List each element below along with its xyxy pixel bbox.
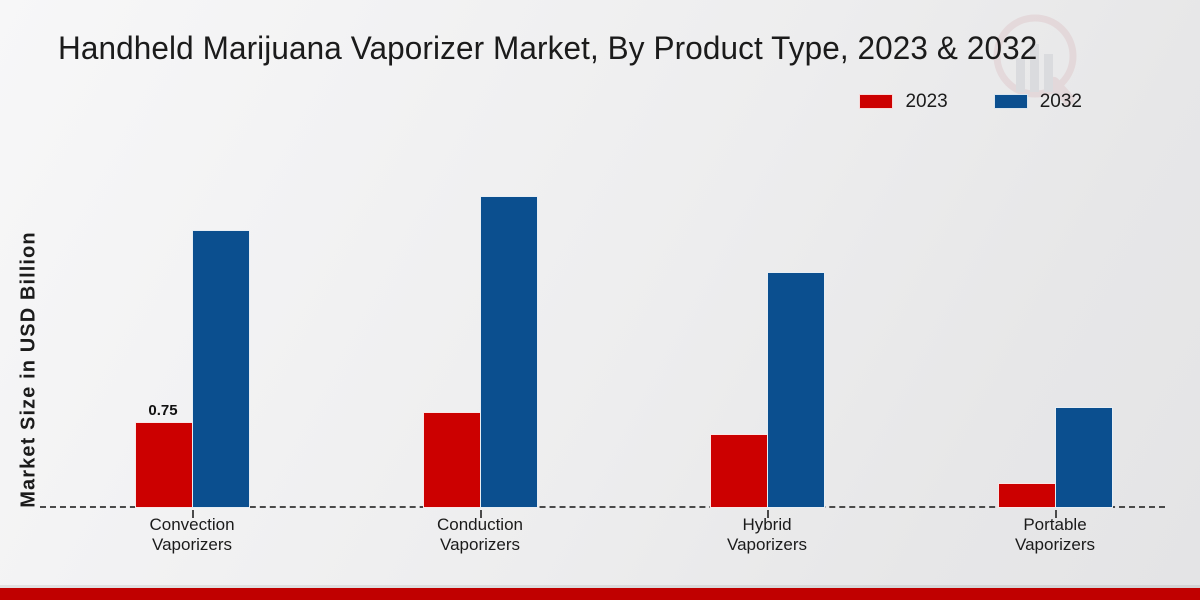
bar-2023-hybrid[interactable]	[710, 434, 768, 508]
bar-2032-portable[interactable]	[1055, 407, 1113, 508]
x-axis-label-hybrid-line1: Hybrid	[657, 515, 877, 535]
x-axis-label-convection-line2: Vaporizers	[82, 535, 302, 555]
x-axis-label-conduction: Conduction Vaporizers	[370, 515, 590, 555]
legend-label-2032: 2032	[1040, 92, 1082, 111]
x-axis-label-convection: Convection Vaporizers	[82, 515, 302, 555]
plot-area: 0.75	[40, 130, 1165, 508]
x-axis-label-conduction-line2: Vaporizers	[370, 535, 590, 555]
chart-title: Handheld Marijuana Vaporizer Market, By …	[58, 30, 1102, 67]
x-axis-label-conduction-line1: Conduction	[370, 515, 590, 535]
legend-item-2032[interactable]: 2032	[994, 92, 1082, 111]
chart-legend: 2023 2032	[859, 92, 1082, 111]
legend-label-2023: 2023	[905, 92, 947, 111]
bar-group-convection: 0.75	[135, 130, 251, 508]
x-axis-label-portable: Portable Vaporizers	[945, 515, 1165, 555]
legend-item-2023[interactable]: 2023	[859, 92, 947, 111]
y-axis-title: Market Size in USD Billion	[18, 200, 41, 540]
x-axis-label-portable-line1: Portable	[945, 515, 1165, 535]
x-axis-label-convection-line1: Convection	[82, 515, 302, 535]
bar-2032-convection[interactable]	[192, 230, 250, 508]
x-axis-label-hybrid-line2: Vaporizers	[657, 535, 877, 555]
bar-2023-convection[interactable]	[135, 422, 193, 508]
legend-swatch-2023	[859, 94, 893, 109]
bar-group-hybrid	[710, 130, 826, 508]
bar-group-conduction	[423, 130, 539, 508]
bar-2032-conduction[interactable]	[480, 196, 538, 508]
footer-red-strip	[0, 588, 1200, 600]
x-axis-label-hybrid: Hybrid Vaporizers	[657, 515, 877, 555]
x-axis-label-portable-line2: Vaporizers	[945, 535, 1165, 555]
bar-value-label-2023-convection: 0.75	[134, 402, 192, 419]
bar-group-portable	[998, 130, 1114, 508]
legend-swatch-2032	[994, 94, 1028, 109]
bar-2023-portable[interactable]	[998, 483, 1056, 508]
bar-2023-conduction[interactable]	[423, 412, 481, 508]
bar-2032-hybrid[interactable]	[767, 272, 825, 508]
chart-container: Handheld Marijuana Vaporizer Market, By …	[0, 0, 1200, 600]
